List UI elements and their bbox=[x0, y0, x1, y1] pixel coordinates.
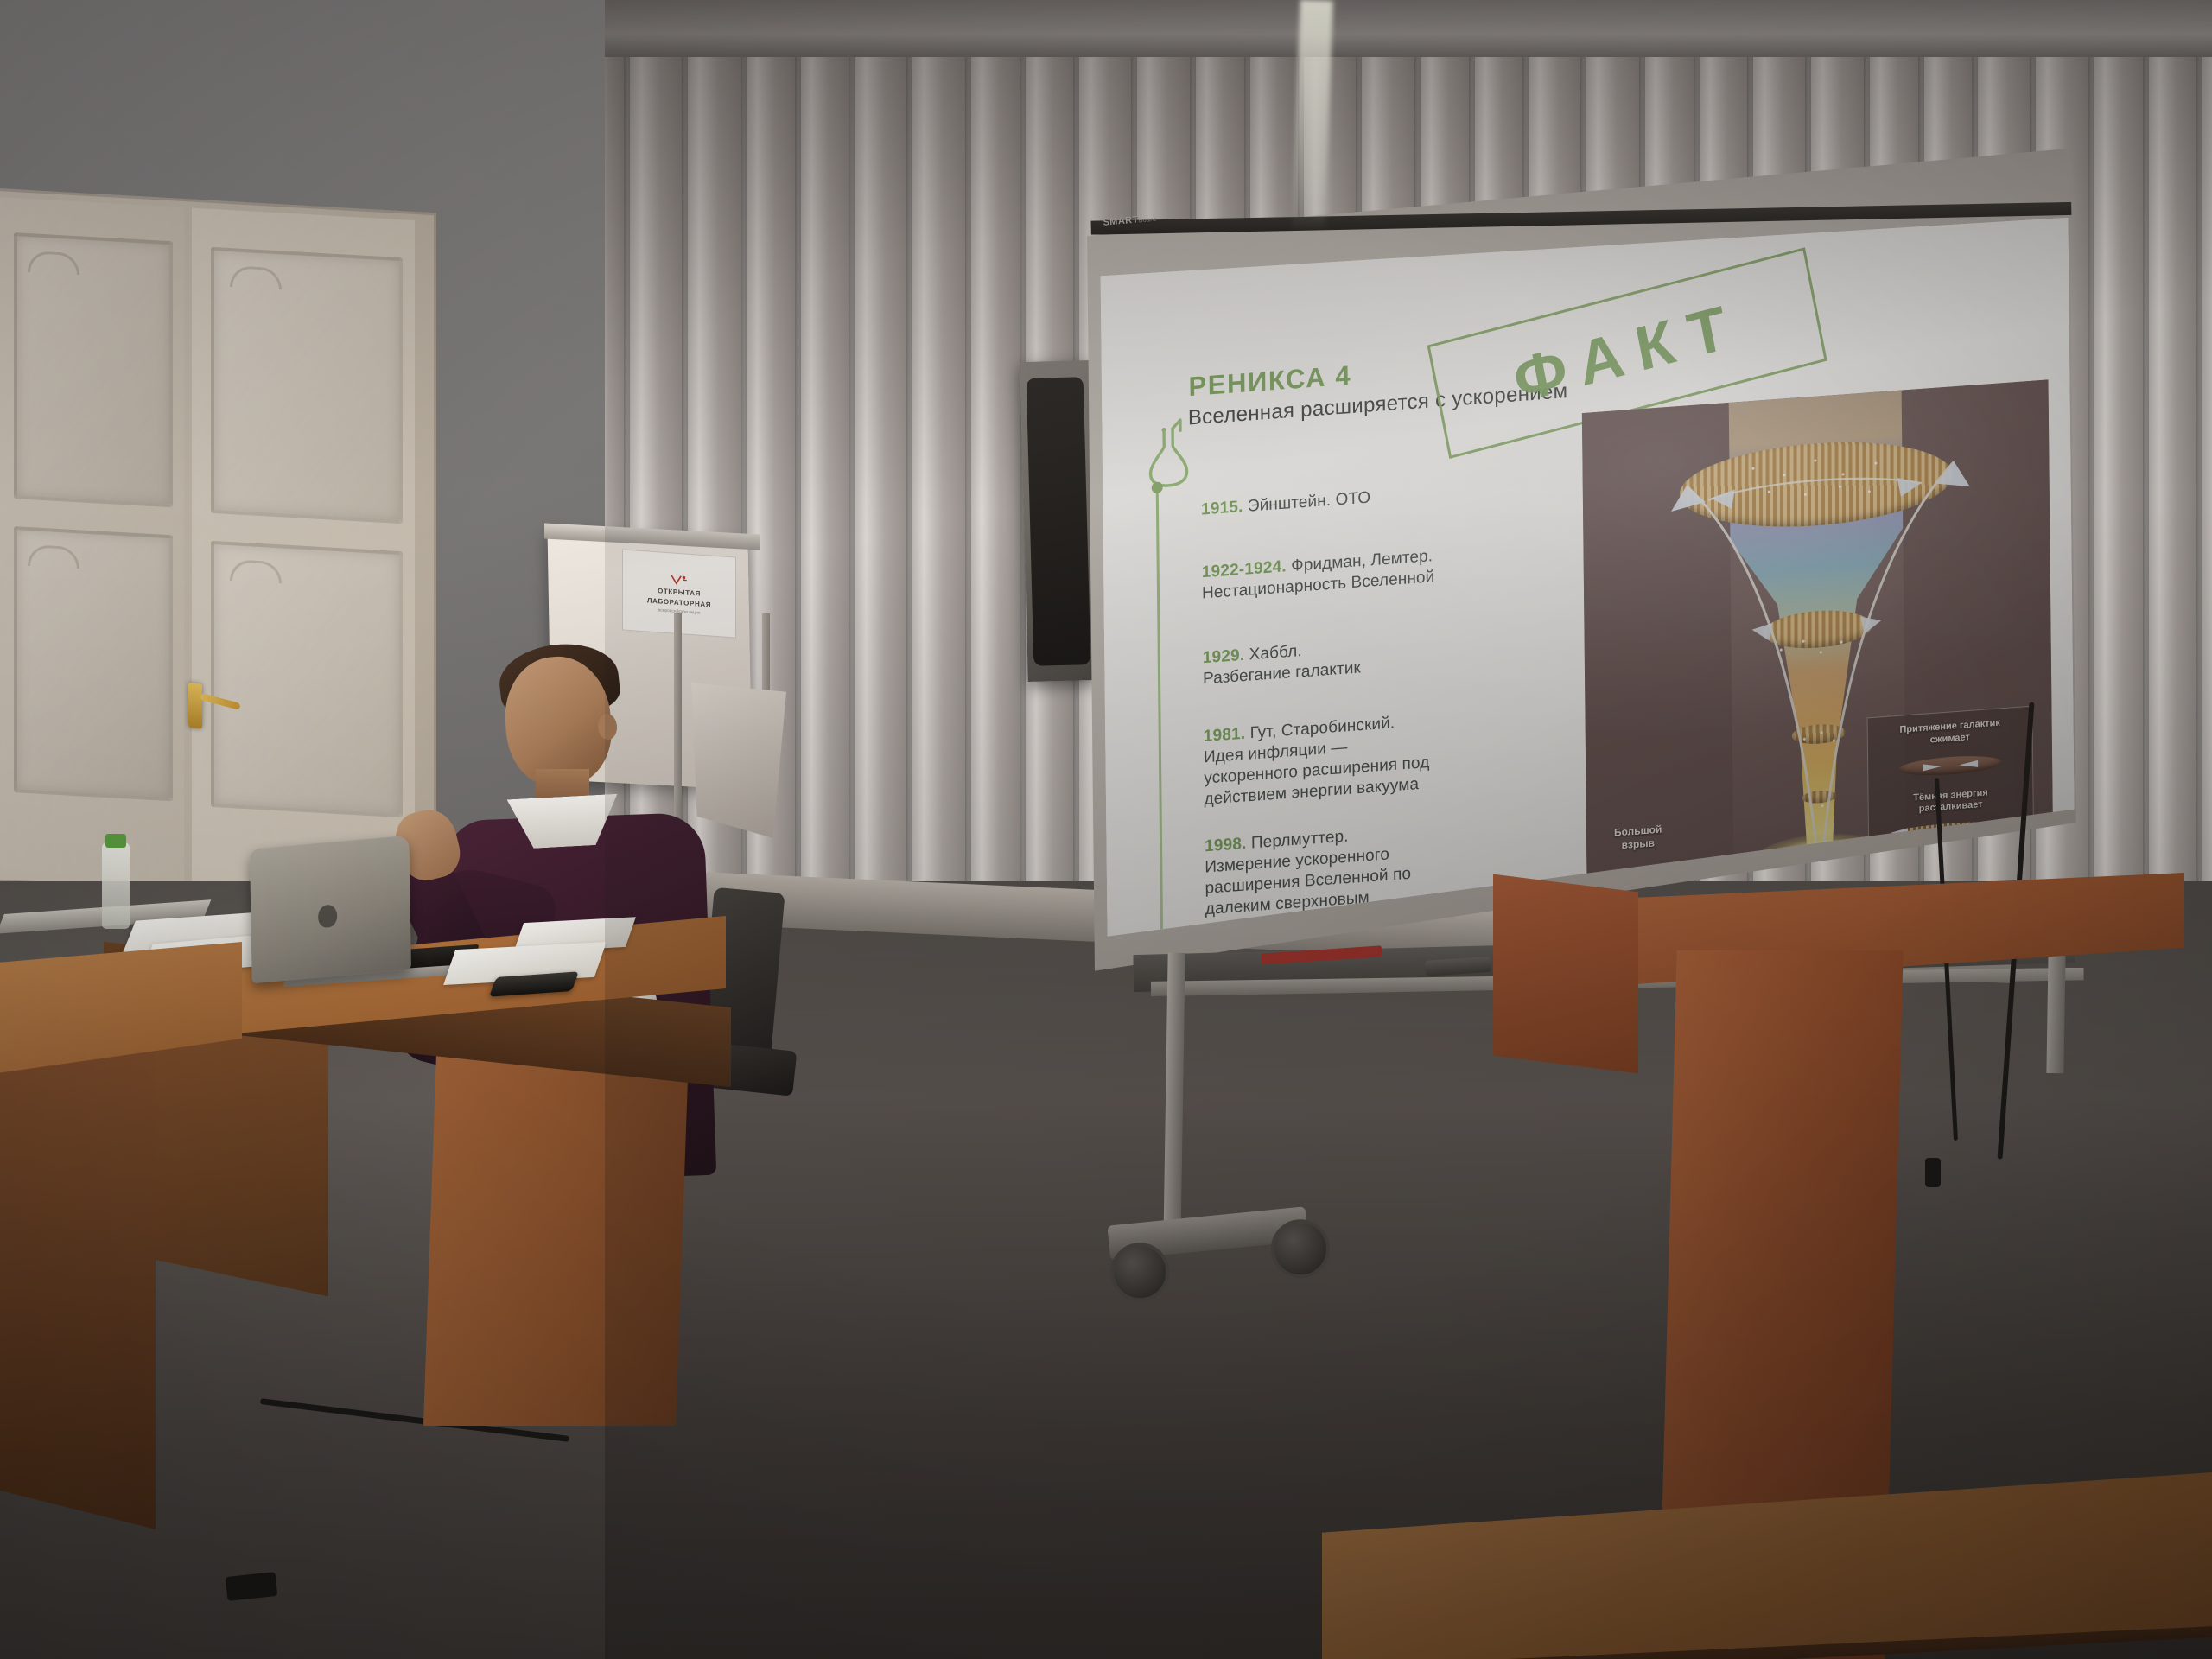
foreground-desk-front bbox=[0, 994, 156, 1529]
timeline-entry-date: 1929. bbox=[1203, 646, 1245, 668]
star-point bbox=[1780, 649, 1783, 652]
poster-line-1: ОТКРЫТАЯ bbox=[658, 587, 701, 597]
legend-attraction-title: Притяжение галактик сжимает bbox=[1899, 717, 2000, 748]
laptop-lid[interactable] bbox=[250, 836, 411, 983]
caster-wheel bbox=[1271, 1219, 1331, 1279]
door-panel bbox=[14, 232, 173, 507]
door-leaf-right[interactable] bbox=[192, 208, 415, 922]
slide-page-number: 20 bbox=[2044, 836, 2053, 865]
legend-attraction-visual bbox=[1881, 745, 2019, 785]
desk-pedestal bbox=[423, 1028, 690, 1426]
legend-dark-energy-title: Тёмная энергия расталкивает bbox=[1913, 787, 1988, 817]
water-bottle bbox=[102, 842, 130, 929]
door-panel bbox=[14, 526, 173, 801]
door-handle[interactable] bbox=[188, 683, 202, 729]
blinds-track bbox=[605, 0, 2212, 57]
double-door[interactable] bbox=[0, 188, 436, 931]
bottle-cap bbox=[105, 834, 126, 848]
timeline-entry-date: 1915. bbox=[1201, 498, 1243, 519]
timeline-entry-date: 1981. bbox=[1204, 725, 1246, 747]
door-panel bbox=[211, 247, 403, 524]
legend-inward-arrows-icon bbox=[1881, 745, 2019, 785]
caster-wheel bbox=[1110, 1243, 1170, 1302]
podium-front-panel bbox=[1493, 874, 1638, 1074]
laptop-logo-icon bbox=[318, 904, 337, 928]
timeline-entry-date: 1998. bbox=[1205, 835, 1247, 856]
lecture-room-photo: ОТКРЫТАЯ ЛАБОРАТОРНАЯ всероссийская акци… bbox=[0, 0, 2212, 1659]
timeline-entry: 1981. Гут, Старобинский.Идея инфляции —у… bbox=[1204, 710, 1430, 810]
big-bang-label: Большой взрыв bbox=[1614, 823, 1662, 853]
cable-plug bbox=[1925, 1158, 1941, 1187]
smart-brand-sub: Board bbox=[1138, 217, 1156, 225]
poster-logo-icon bbox=[670, 573, 689, 587]
door-panel bbox=[211, 541, 403, 817]
door-leaf-left[interactable] bbox=[0, 197, 184, 909]
timeline-entry-title: Хаббл. bbox=[1244, 642, 1302, 664]
